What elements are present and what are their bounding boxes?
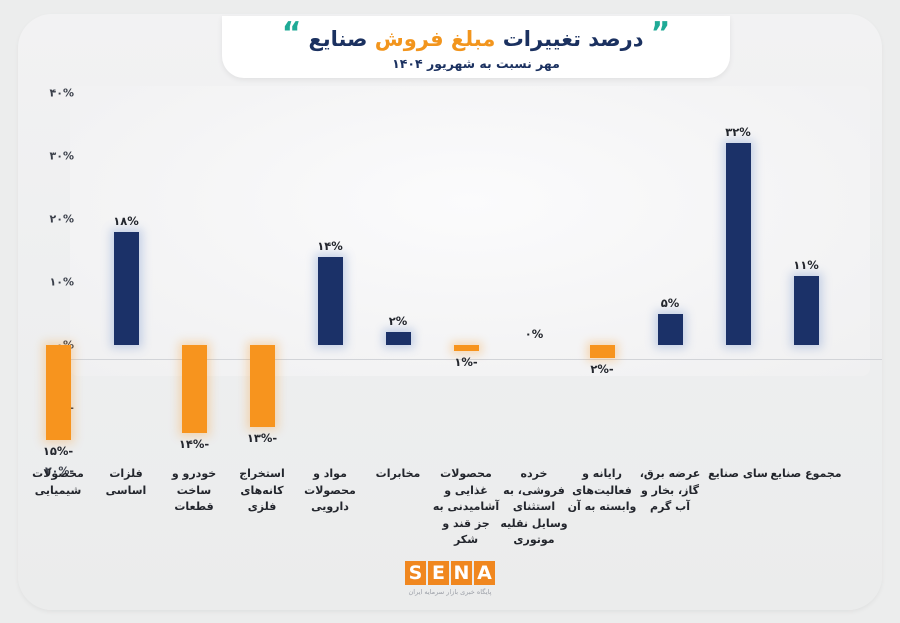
bar[interactable] — [454, 345, 479, 351]
x-axis-category-label: فلزات اساسی — [90, 466, 162, 499]
bar-value-label: ۰% — [525, 327, 544, 341]
bar-value-label: ۱۱% — [793, 258, 819, 272]
bar[interactable] — [182, 345, 207, 433]
x-axis-category-label: مواد و محصولات دارویی — [294, 466, 366, 516]
bar-value-label: -۱% — [454, 355, 477, 369]
x-axis-category-label: عرضه برق، گاز، بخار و آب گرم — [634, 466, 706, 516]
bar[interactable] — [318, 257, 343, 345]
bar[interactable] — [590, 345, 615, 358]
bar[interactable] — [726, 143, 751, 345]
bar[interactable] — [46, 345, 71, 440]
bar[interactable] — [658, 314, 683, 346]
x-axis-category-label: رایانه و فعالیت‌های وابسته به آن — [566, 466, 638, 516]
bar[interactable] — [114, 232, 139, 345]
bar-value-label: -۱۴% — [179, 437, 209, 451]
sena-letter: A — [474, 561, 495, 585]
sena-letter: S — [405, 561, 426, 585]
x-axis-category-label: محصولات شیمیایی — [22, 466, 94, 499]
bar[interactable] — [250, 345, 275, 427]
sena-tagline: پایگاه خبری بازار سرمایه ایران — [409, 588, 492, 596]
sena-wordmark: SENA — [405, 561, 495, 585]
x-axis-category-label: مجموع صنایع — [770, 466, 842, 483]
x-axis-category-label: محصولات غذایی و آشامیدنی به جز قند و شکر — [430, 466, 502, 549]
bar-value-label: -۲% — [590, 362, 613, 376]
bar-value-label: ۱۴% — [317, 239, 343, 253]
sena-letter: E — [428, 561, 449, 585]
x-axis-category-label: خرده فروشی، به استثنای وسایل نقلیه موتور… — [498, 466, 570, 549]
x-axis-category-label: سای صنایع — [702, 466, 774, 483]
x-axis-category-label: خودرو و ساخت قطعات — [158, 466, 230, 516]
bar-value-label: ۲% — [389, 314, 408, 328]
x-axis-category-label: استخراج کانه‌های فلزی — [226, 466, 298, 516]
bar[interactable] — [794, 276, 819, 345]
bar-value-label: ۵% — [661, 296, 680, 310]
chart-card: ” درصد تغییرات مبلغ فروش صنایع “ مهر نسب… — [18, 14, 882, 610]
sena-letter: N — [451, 561, 472, 585]
bar-value-label: ۱۸% — [113, 214, 139, 228]
sena-logo: SENA پایگاه خبری بازار سرمایه ایران — [385, 561, 515, 596]
bar-value-label: -۱۵% — [43, 444, 73, 458]
bar-value-label: ۳۲% — [725, 125, 751, 139]
bar-value-label: -۱۳% — [247, 431, 277, 445]
bar[interactable] — [386, 332, 411, 345]
x-axis-category-label: مخابرات — [362, 466, 434, 483]
